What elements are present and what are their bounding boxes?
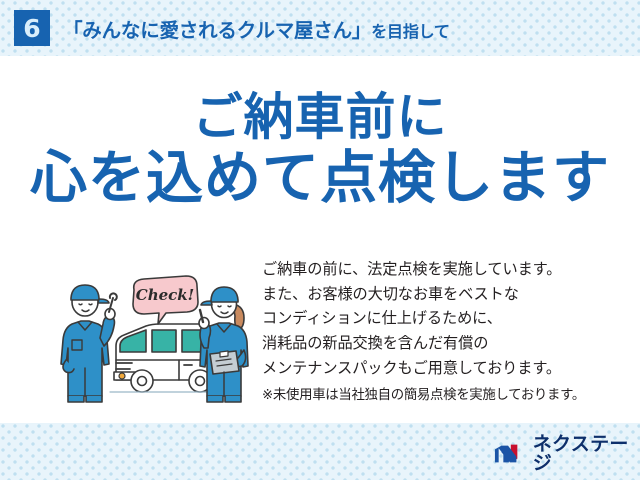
body-line-5: メンテナンスパックもご用意しております。 — [262, 357, 630, 382]
brand-logo: ネクステージ — [494, 440, 640, 468]
headline-line-1: ご納車前に — [0, 92, 640, 143]
male-mechanic — [61, 285, 117, 402]
header-title: 「みんなに愛されるクルマ屋さん」を目指して — [63, 14, 450, 43]
page-title: ご納車前に 心を込めて点検します — [0, 92, 640, 207]
female-mechanic — [199, 287, 248, 402]
header-title-main: 「みんなに愛されるクルマ屋さん」 — [63, 20, 371, 42]
body-line-3: コンディションに仕上げるために、 — [262, 307, 630, 332]
header: 6 「みんなに愛されるクルマ屋さん」を目指して — [14, 8, 450, 48]
nextage-n-mark-icon — [494, 442, 526, 466]
promotional-banner: 6 「みんなに愛されるクルマ屋さん」を目指して ご納車前に 心を込めて点検します — [0, 0, 640, 480]
header-title-tail: を目指して — [371, 24, 450, 41]
body-copy: ご納車の前に、法定点検を実施しています。 また、お客様の大切なお車をベストな コ… — [262, 258, 630, 406]
headline-line-2: 心を込めて点検します — [0, 149, 640, 207]
mechanics-illustration-svg: Check! — [58, 268, 258, 408]
mechanics-illustration: Check! — [58, 268, 258, 408]
body-footnote: ※未使用車は当社独自の簡易点検を実施しております。 — [262, 384, 630, 406]
body-line-4: 消耗品の新品交換を含んだ有償の — [262, 332, 630, 357]
brand-logo-text: ネクステージ — [533, 435, 640, 473]
check-bubble-label: Check! — [136, 286, 195, 304]
body-line-1: ご納車の前に、法定点検を実施しています。 — [262, 258, 630, 283]
body-line-2: また、お客様の大切なお車をベストな — [262, 283, 630, 308]
section-number-badge: 6 — [14, 10, 50, 46]
